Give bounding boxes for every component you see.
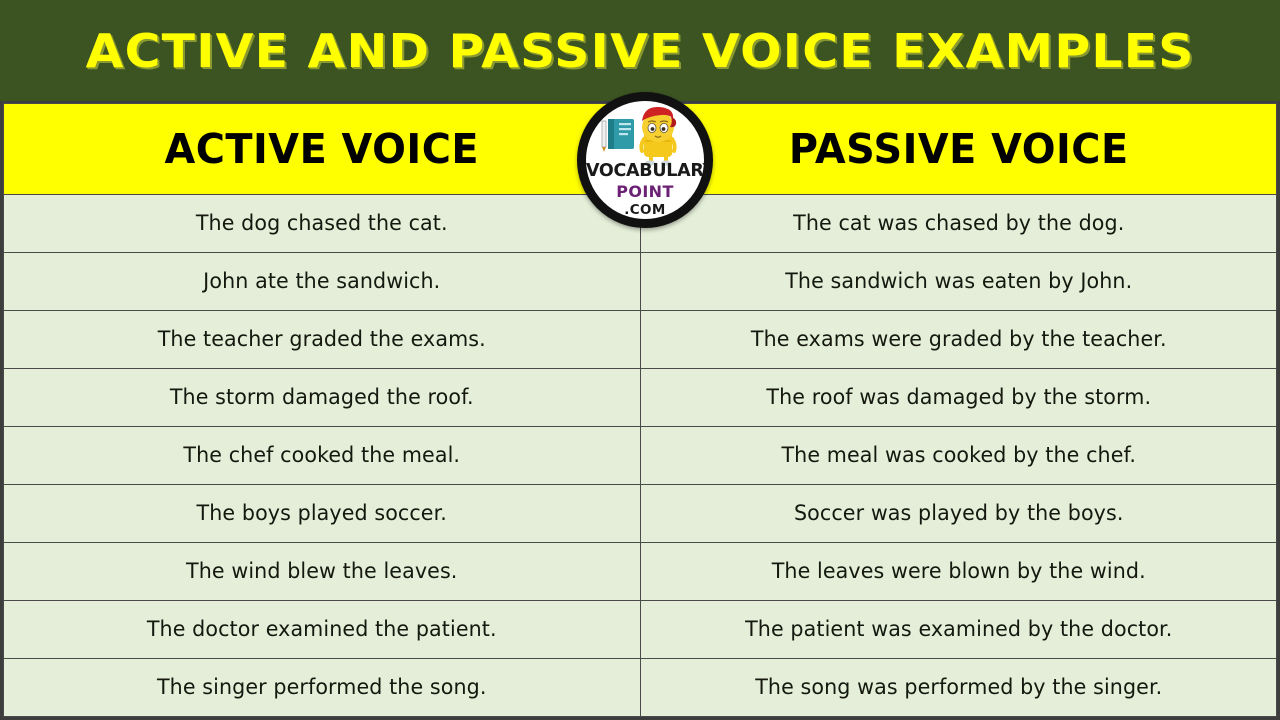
active-voice-cell: The wind blew the leaves. [4, 543, 641, 601]
passive-voice-cell: The meal was cooked by the chef. [640, 427, 1277, 485]
infographic-page: ACTIVE AND PASSIVE VOICE EXAMPLES ACTIVE… [0, 0, 1280, 720]
active-voice-cell: The dog chased the cat. [4, 195, 641, 253]
active-voice-cell: The chef cooked the meal. [4, 427, 641, 485]
active-voice-text: The doctor examined the patient. [24, 617, 619, 642]
table-row: The doctor examined the patient. The pat… [4, 601, 1277, 659]
active-voice-text: The chef cooked the meal. [24, 443, 619, 468]
passive-voice-text: The leaves were blown by the wind. [661, 559, 1256, 584]
table-row: The storm damaged the roof. The roof was… [4, 369, 1277, 427]
passive-voice-text: The cat was chased by the dog. [661, 211, 1256, 236]
table-row: The singer performed the song. The song … [4, 659, 1277, 717]
column-header-active-voice: ACTIVE VOICE [4, 104, 641, 195]
table-row: John ate the sandwich. The sandwich was … [4, 253, 1277, 311]
passive-voice-text: The patient was examined by the doctor. [661, 617, 1256, 642]
active-voice-text: The singer performed the song. [24, 675, 619, 700]
active-voice-cell: The storm damaged the roof. [4, 369, 641, 427]
column-header-passive-voice: PASSIVE VOICE [640, 104, 1277, 195]
page-title: ACTIVE AND PASSIVE VOICE EXAMPLES [85, 24, 1194, 78]
vocabulary-point-logo: VOCABULARY POINT .COM [577, 92, 713, 228]
passive-voice-cell: The song was performed by the singer. [640, 659, 1277, 717]
passive-voice-cell: The sandwich was eaten by John. [640, 253, 1277, 311]
table-row: The boys played soccer. Soccer was playe… [4, 485, 1277, 543]
passive-voice-cell: Soccer was played by the boys. [640, 485, 1277, 543]
passive-voice-text: The song was performed by the singer. [661, 675, 1256, 700]
passive-voice-cell: The roof was damaged by the storm. [640, 369, 1277, 427]
table-row: The teacher graded the exams. The exams … [4, 311, 1277, 369]
passive-voice-text: The meal was cooked by the chef. [661, 443, 1256, 468]
table-row: The wind blew the leaves. The leaves wer… [4, 543, 1277, 601]
passive-voice-cell: The cat was chased by the dog. [640, 195, 1277, 253]
book-icon [602, 119, 634, 152]
passive-voice-cell: The patient was examined by the doctor. [640, 601, 1277, 659]
active-voice-text: John ate the sandwich. [24, 269, 619, 294]
table-row: The chef cooked the meal. The meal was c… [4, 427, 1277, 485]
active-voice-text: The dog chased the cat. [24, 211, 619, 236]
passive-voice-text: The sandwich was eaten by John. [661, 269, 1256, 294]
passive-voice-text: The exams were graded by the teacher. [661, 327, 1256, 352]
active-voice-cell: The boys played soccer. [4, 485, 641, 543]
active-voice-cell: The teacher graded the exams. [4, 311, 641, 369]
column-header-passive-voice-label: PASSIVE VOICE [650, 125, 1266, 173]
logo-mascot-icon [586, 105, 704, 167]
mascot-character [641, 107, 676, 166]
active-voice-text: The wind blew the leaves. [24, 559, 619, 584]
title-banner: ACTIVE AND PASSIVE VOICE EXAMPLES [0, 0, 1280, 101]
active-voice-text: The storm damaged the roof. [24, 385, 619, 410]
logo-text-com: .COM [586, 204, 704, 218]
active-voice-text: The teacher graded the exams. [24, 327, 619, 352]
active-voice-cell: The doctor examined the patient. [4, 601, 641, 659]
table-body: The dog chased the cat. The cat was chas… [4, 195, 1277, 717]
logo-text-point: POINT [586, 184, 704, 200]
passive-voice-text: The roof was damaged by the storm. [661, 385, 1256, 410]
passive-voice-cell: The exams were graded by the teacher. [640, 311, 1277, 369]
passive-voice-cell: The leaves were blown by the wind. [640, 543, 1277, 601]
active-voice-cell: John ate the sandwich. [4, 253, 641, 311]
column-header-active-voice-label: ACTIVE VOICE [14, 125, 630, 173]
logo-text-vocabulary: VOCABULARY [586, 163, 704, 181]
active-voice-cell: The singer performed the song. [4, 659, 641, 717]
active-voice-text: The boys played soccer. [24, 501, 619, 526]
passive-voice-text: Soccer was played by the boys. [661, 501, 1256, 526]
